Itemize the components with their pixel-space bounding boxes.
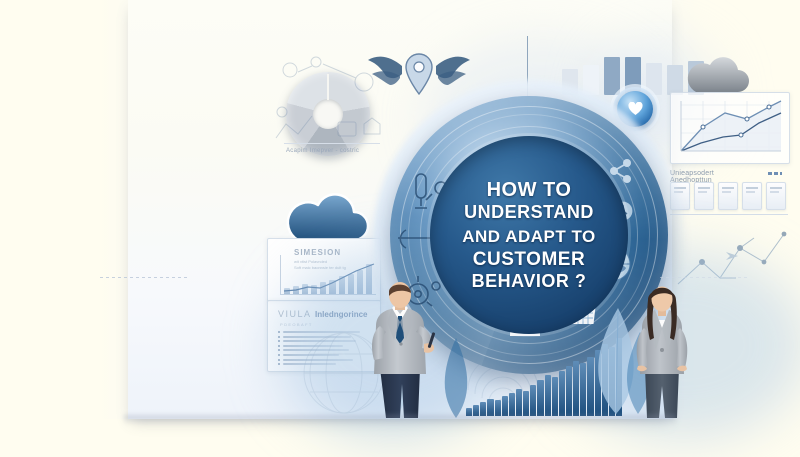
chart-bar: [573, 361, 579, 416]
icon-card-row: [670, 182, 786, 210]
bullet-dot: [278, 354, 280, 356]
left-caption-rule: [284, 143, 380, 144]
left-caption: Acapim Imepver - costric: [286, 148, 359, 154]
top-rect-block: [625, 57, 641, 95]
chart-bar: [502, 396, 508, 416]
bullet-dot: [278, 336, 280, 338]
hero-inner-disc: HOW TO UNDERSTAND AND ADAPT TO CUSTOMER …: [430, 136, 628, 334]
guide-dashed-line-left: [100, 277, 188, 278]
top-rect-block: [646, 63, 662, 95]
card-icon: [742, 182, 762, 210]
guide-dashed-line-right: [660, 277, 750, 278]
chart-bar: [587, 357, 593, 416]
chart-bar: [523, 391, 529, 416]
chart-bar: [495, 400, 501, 416]
line-chart-card: [670, 92, 790, 164]
card-icon: [694, 182, 714, 210]
hero-title-line-5: BEHAVIOR ?: [462, 271, 596, 291]
chart-bar: [545, 375, 551, 416]
chart-bar: [559, 371, 565, 416]
chart-bar: [566, 366, 572, 416]
donut-chart-gap: [327, 74, 329, 100]
businessman-figure: [354, 282, 446, 418]
chart-bar: [595, 350, 601, 416]
divider-right: [670, 214, 788, 215]
bullet-dot: [278, 359, 280, 361]
bullet-dot: [278, 349, 280, 351]
top-rect-block: [604, 57, 620, 95]
businesswoman-figure: [618, 284, 706, 418]
card-icon: [718, 182, 738, 210]
chart-bar: [552, 377, 558, 416]
bullet-card-subheading: PDEOBAFT: [280, 322, 313, 327]
bar-chart-y-axis: [280, 255, 281, 295]
bullet-dot: [278, 345, 280, 347]
line-chart: [671, 93, 789, 163]
ascending-bar-chart: [466, 338, 622, 416]
content-panel: Unieapsodert Anedhopttun Acapim Imepver …: [128, 0, 672, 419]
hero-title-line-4: CUSTOMER: [462, 249, 596, 270]
chart-bar: [509, 393, 515, 416]
bullet-dot: [278, 331, 280, 333]
bullet-dot: [278, 363, 280, 365]
chart-bar: [487, 399, 493, 416]
chart-bar: [537, 380, 543, 416]
bar-chart-card-heading: SIMESION: [294, 248, 341, 257]
card-icon: [766, 182, 786, 210]
hero-title-line-3: AND ADAPT TO: [462, 227, 596, 246]
dashed-line-legend: [768, 172, 782, 175]
chart-bar: [609, 347, 615, 416]
chart-bar: [530, 385, 536, 416]
bullet-dot: [278, 340, 280, 342]
chart-bar: [480, 402, 486, 416]
hero-title-line-2: UNDERSTAND: [462, 202, 596, 222]
infographic-canvas: Unieapsodert Anedhopttun Acapim Imepver …: [0, 0, 800, 457]
chart-bar: [580, 363, 586, 416]
chart-bar: [602, 344, 608, 416]
panel-drop-shadow: [124, 415, 676, 425]
hero-title-line-1: HOW TO: [462, 179, 596, 201]
chart-bar: [516, 389, 522, 416]
hero-title: HOW TO UNDERSTAND AND ADAPT TO CUSTOMER …: [454, 179, 604, 292]
